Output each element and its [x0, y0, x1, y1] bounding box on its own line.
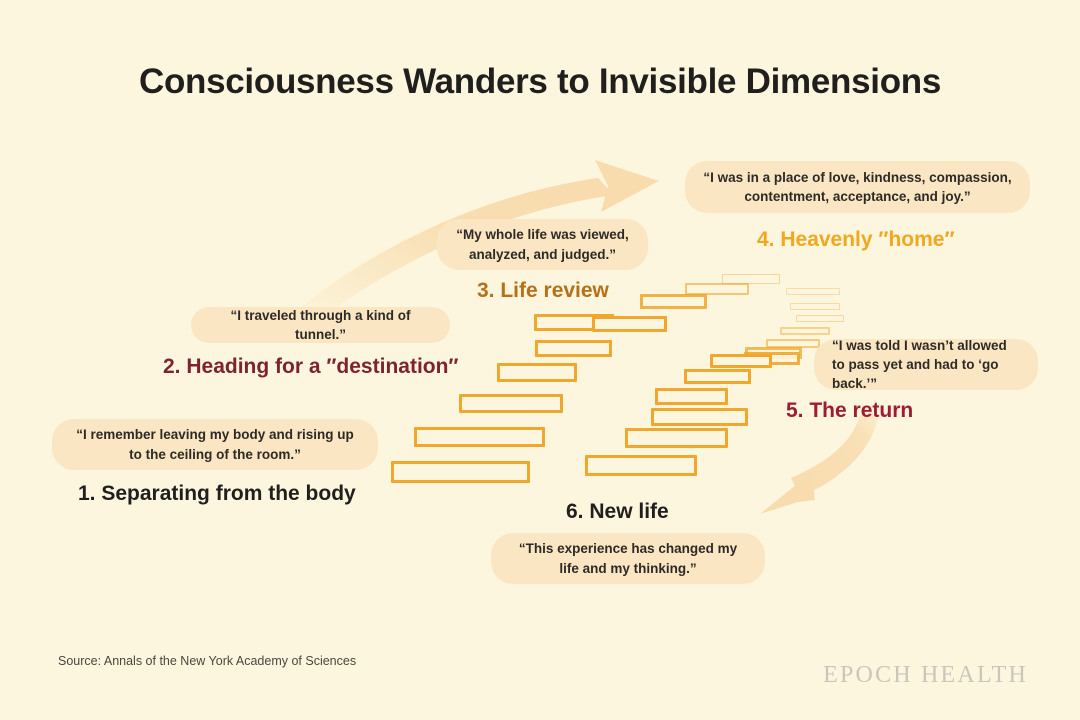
stair-bar [459, 394, 563, 413]
step-label-text: 5. The return [786, 399, 913, 422]
stair-bar [796, 315, 844, 322]
quote-bubble-step-4: “I was in a place of love, kindness, com… [685, 161, 1030, 213]
quote-bubble-step-1: “I remember leaving my body and rising u… [52, 419, 378, 470]
stair-bar [391, 461, 530, 483]
stair-bar [625, 428, 728, 448]
step-label-5: 5. The return [786, 399, 913, 423]
infographic-canvas: Consciousness Wanders to Invisible Dimen… [0, 0, 1080, 720]
quote-bubble-step-2: “I traveled through a kind of tunnel.” [191, 307, 450, 343]
step-label-4: 4. Heavenly ″home″ [757, 228, 955, 252]
step-label-text: 3. Life review [477, 279, 609, 302]
quote-text: “I was told I wasn’t allowed to pass yet… [832, 336, 1020, 393]
quote-text: “This experience has changed my life and… [509, 539, 747, 577]
stair-bar [685, 283, 749, 295]
quote-text: “I traveled through a kind of tunnel.” [209, 306, 432, 344]
quote-text: “I remember leaving my body and rising u… [70, 425, 360, 463]
stair-bar [592, 316, 667, 332]
step-label-text: 2. Heading for a ″destination″ [163, 355, 459, 378]
step-label-6: 6. New life [566, 500, 669, 524]
stair-bar [710, 354, 772, 368]
stair-bar [651, 408, 748, 426]
stair-bar [414, 427, 545, 447]
quote-bubble-step-3: “My whole life was viewed, analyzed, and… [437, 219, 648, 270]
step-label-text: 6. New life [566, 500, 669, 523]
source-note: Source: Annals of the New York Academy o… [58, 654, 356, 668]
stair-bar [790, 303, 840, 310]
stair-bar [640, 294, 707, 309]
step-label-1: 1. Separating from the body [78, 482, 356, 506]
stair-bar [585, 455, 697, 476]
quote-bubble-step-5: “I was told I wasn’t allowed to pass yet… [814, 339, 1038, 390]
stair-bar [722, 274, 780, 284]
stair-bar [684, 369, 751, 384]
quote-text: “My whole life was viewed, analyzed, and… [455, 225, 630, 263]
step-label-text: 1. Separating from the body [78, 482, 356, 505]
stair-bar [655, 388, 728, 405]
quote-bubble-step-6: “This experience has changed my life and… [491, 533, 765, 584]
stair-bar [497, 363, 577, 382]
stair-bar [780, 327, 830, 335]
step-label-3: 3. Life review [477, 279, 609, 303]
stair-bar [535, 340, 612, 357]
epoch-health-logo: EPOCH HEALTH [823, 662, 1028, 689]
step-label-text: 4. Heavenly ″home″ [757, 228, 955, 251]
quote-text: “I was in a place of love, kindness, com… [703, 168, 1012, 206]
step-label-2: 2. Heading for a ″destination″ [163, 355, 459, 379]
stair-bar [786, 288, 840, 295]
